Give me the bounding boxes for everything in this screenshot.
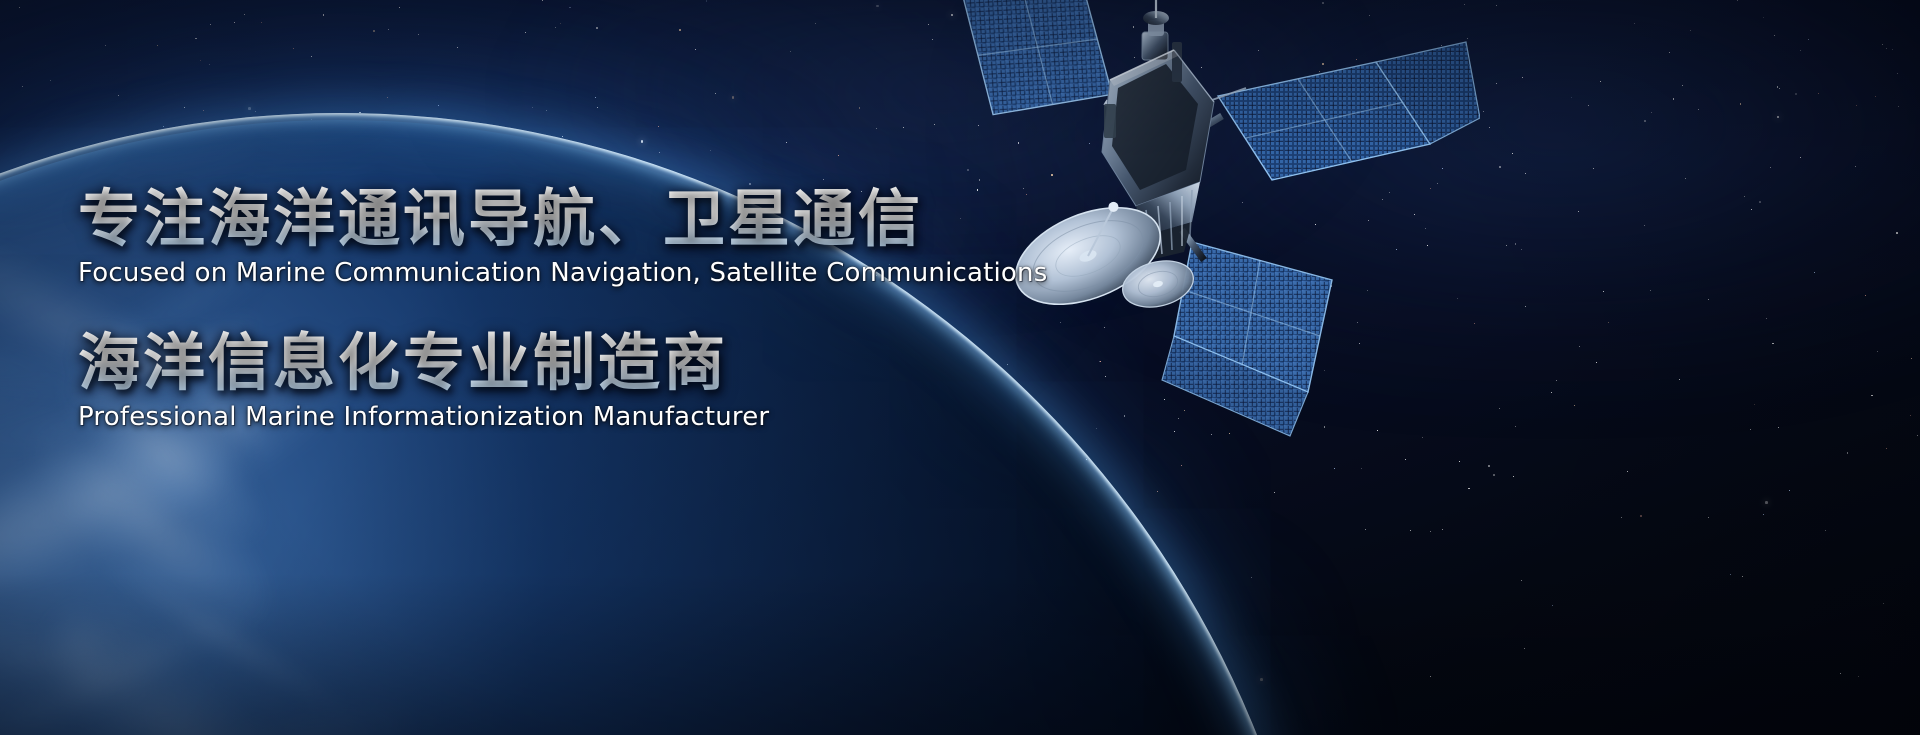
star (311, 119, 312, 120)
star (1847, 452, 1849, 454)
star (373, 30, 375, 32)
star (1875, 96, 1876, 97)
star (1744, 196, 1745, 197)
star (157, 45, 158, 46)
star (1157, 491, 1158, 492)
star (928, 24, 929, 25)
star (876, 128, 877, 129)
star (1765, 501, 1768, 504)
star (1571, 97, 1572, 98)
star (829, 649, 830, 650)
star (1468, 488, 1470, 490)
star (597, 107, 598, 108)
star (1055, 627, 1056, 628)
star (1578, 211, 1579, 212)
star (1579, 346, 1580, 347)
star (1621, 517, 1622, 518)
star (1740, 103, 1742, 105)
star (1777, 116, 1780, 119)
star (1644, 225, 1645, 226)
star (946, 408, 947, 409)
star (1525, 173, 1526, 174)
headline-block-primary: 专注海洋通讯导航、卫星通信 专注海洋通讯导航、卫星通信 Focused on M… (78, 186, 1047, 289)
star (844, 479, 845, 480)
star (454, 306, 455, 307)
star (234, 22, 235, 23)
star (546, 110, 547, 111)
star (715, 93, 716, 94)
star (859, 107, 861, 109)
star (293, 48, 294, 49)
star (1800, 157, 1801, 158)
star (389, 133, 390, 134)
star (907, 499, 908, 500)
star (1483, 111, 1484, 112)
star (1763, 17, 1764, 18)
star (261, 176, 263, 178)
headline-primary-en: Focused on Marine Communication Navigati… (78, 258, 1047, 289)
star (1181, 465, 1182, 466)
headline-secondary-cn: 海洋信息化专业制造商 (78, 330, 769, 396)
star (934, 124, 935, 125)
star (1493, 474, 1495, 476)
star (710, 150, 711, 151)
star (1365, 529, 1366, 530)
star (1512, 153, 1513, 154)
star (658, 126, 659, 127)
star (1754, 404, 1755, 405)
star (542, 0, 543, 1)
star (725, 292, 726, 293)
star (1814, 272, 1815, 273)
star (1750, 429, 1751, 430)
star (1524, 648, 1525, 649)
star (1742, 576, 1743, 577)
star (1795, 93, 1797, 95)
star (1818, 93, 1819, 94)
star (255, 111, 256, 112)
star (949, 471, 950, 472)
star (388, 29, 389, 30)
star (244, 14, 245, 15)
star (695, 49, 696, 50)
star (1588, 105, 1589, 106)
star (919, 456, 920, 457)
star (525, 32, 526, 33)
star (1006, 455, 1007, 456)
star (1101, 675, 1102, 676)
star (595, 97, 596, 98)
star (1730, 574, 1731, 575)
star (105, 45, 106, 46)
star (200, 60, 201, 61)
star (874, 444, 875, 445)
star (1521, 249, 1522, 250)
star (457, 47, 458, 48)
star (1871, 395, 1872, 396)
star (203, 110, 204, 111)
star (1083, 670, 1084, 671)
star (893, 498, 894, 499)
star (679, 29, 681, 31)
star (1800, 50, 1801, 51)
star (14, 212, 15, 213)
star (1778, 427, 1779, 428)
star (1086, 459, 1087, 460)
star (359, 112, 361, 114)
star (1708, 517, 1709, 518)
star (569, 7, 570, 8)
star (1759, 201, 1761, 203)
star (952, 731, 953, 732)
star (1650, 290, 1651, 291)
star (1679, 379, 1680, 380)
star (903, 127, 904, 128)
star (365, 176, 366, 177)
star (1877, 351, 1878, 352)
star (553, 441, 554, 442)
star (706, 0, 707, 1)
star (1022, 718, 1023, 719)
star (790, 51, 791, 52)
star (1002, 514, 1004, 516)
star (843, 467, 844, 468)
star (1496, 83, 1497, 84)
star (644, 460, 645, 461)
star (1496, 5, 1497, 6)
star (1627, 471, 1628, 472)
star (1910, 415, 1911, 416)
star (1634, 23, 1635, 24)
star (19, 7, 20, 8)
star (632, 313, 633, 314)
star (1669, 52, 1670, 53)
star (852, 541, 853, 542)
star (1825, 530, 1826, 531)
star (1840, 673, 1841, 674)
star (658, 514, 659, 515)
star (108, 477, 109, 478)
star (43, 246, 44, 247)
star (1600, 81, 1601, 82)
star (1886, 448, 1887, 449)
star (560, 23, 561, 24)
star (532, 107, 533, 108)
star (903, 469, 904, 470)
star (951, 441, 952, 442)
star (438, 105, 439, 106)
star (369, 292, 370, 293)
star (1521, 580, 1522, 581)
star (823, 179, 824, 180)
star (1896, 232, 1898, 234)
star (945, 397, 946, 398)
star (1763, 514, 1764, 515)
headline-primary-cn: 专注海洋通讯导航、卫星通信 (78, 186, 1047, 252)
star (958, 486, 959, 487)
star (1892, 49, 1893, 50)
solar-panel-right (1218, 42, 1480, 180)
star (32, 220, 33, 221)
star (163, 126, 164, 127)
star (22, 86, 23, 87)
star (1858, 676, 1859, 677)
star (1525, 306, 1526, 307)
star (1430, 676, 1431, 677)
star (826, 666, 827, 667)
star (158, 318, 159, 319)
star (1682, 85, 1683, 86)
star (331, 159, 332, 160)
star (951, 14, 954, 17)
star (1552, 605, 1553, 606)
star (1084, 593, 1085, 594)
star (1770, 167, 1771, 168)
star (74, 176, 75, 177)
star (1651, 112, 1652, 113)
star (1513, 476, 1514, 477)
star (1608, 322, 1609, 323)
star (1865, 295, 1866, 296)
star (1430, 531, 1431, 532)
star (596, 27, 598, 29)
star (838, 155, 839, 156)
star (1690, 30, 1691, 31)
star (1772, 343, 1773, 344)
star (1808, 39, 1809, 40)
star (387, 97, 388, 98)
star (462, 178, 463, 179)
star (1897, 73, 1898, 74)
star (1855, 166, 1856, 167)
star (1698, 109, 1699, 110)
star (1766, 318, 1767, 319)
star (1499, 408, 1500, 409)
star (248, 107, 251, 110)
star (1574, 405, 1575, 406)
star (261, 22, 262, 23)
star (1551, 392, 1552, 393)
star (1777, 86, 1779, 88)
star (1334, 468, 1335, 469)
star (984, 654, 986, 656)
star (1883, 603, 1884, 604)
star (1361, 468, 1362, 469)
star (50, 80, 51, 81)
star (1751, 209, 1752, 210)
star (1911, 358, 1912, 359)
star (1640, 515, 1642, 517)
star (1685, 178, 1686, 179)
star (1489, 127, 1490, 128)
star (617, 290, 619, 292)
star (763, 480, 764, 481)
star (1459, 461, 1460, 462)
star (1603, 291, 1604, 292)
star (555, 27, 556, 28)
star (1644, 120, 1646, 122)
star (781, 492, 782, 493)
star (876, 5, 879, 8)
star (399, 7, 400, 8)
star (323, 14, 325, 16)
star (209, 64, 210, 65)
star (732, 96, 735, 99)
star (958, 341, 959, 342)
star (1774, 35, 1775, 36)
star (195, 38, 197, 40)
star (1789, 490, 1790, 491)
headline-block-secondary: 海洋信息化专业制造商 海洋信息化专业制造商 Professional Marin… (78, 330, 769, 433)
star (1737, 0, 1738, 1)
star (1120, 497, 1121, 498)
star (819, 496, 821, 498)
star (1515, 426, 1516, 427)
star (1708, 299, 1709, 300)
star (311, 56, 312, 57)
star (1021, 516, 1022, 517)
star (389, 177, 390, 178)
star (184, 107, 185, 108)
star (1260, 678, 1263, 681)
star (1779, 88, 1780, 89)
star (932, 39, 933, 40)
hero-banner: 专注海洋通讯导航、卫星通信 专注海洋通讯导航、卫星通信 Focused on M… (0, 0, 1920, 735)
star (210, 24, 211, 25)
star (1442, 529, 1443, 530)
star (1488, 465, 1490, 467)
star (641, 140, 644, 143)
star (786, 142, 787, 143)
star (1515, 243, 1517, 245)
star (54, 298, 55, 299)
star (1886, 48, 1887, 49)
star (1596, 362, 1597, 363)
star (761, 657, 762, 658)
star (1673, 98, 1675, 100)
star (1522, 77, 1523, 78)
star (659, 152, 660, 153)
star (1251, 577, 1252, 578)
star (1499, 166, 1501, 168)
star (815, 23, 816, 24)
star (562, 136, 563, 137)
star (23, 265, 24, 266)
star (1917, 435, 1918, 436)
star (33, 725, 35, 727)
star (118, 95, 119, 96)
solar-panel-upper-left (962, 0, 1112, 116)
star (904, 686, 905, 687)
star (1405, 459, 1406, 460)
star (1856, 105, 1857, 106)
star (1882, 44, 1883, 45)
star (1506, 245, 1507, 246)
star (1593, 168, 1594, 169)
headline-secondary-en: Professional Marine Informationization M… (78, 402, 769, 433)
star (1274, 492, 1275, 493)
star (1410, 530, 1411, 531)
star (1556, 380, 1557, 381)
star (418, 34, 419, 35)
star (1898, 106, 1899, 107)
star (1002, 455, 1003, 456)
